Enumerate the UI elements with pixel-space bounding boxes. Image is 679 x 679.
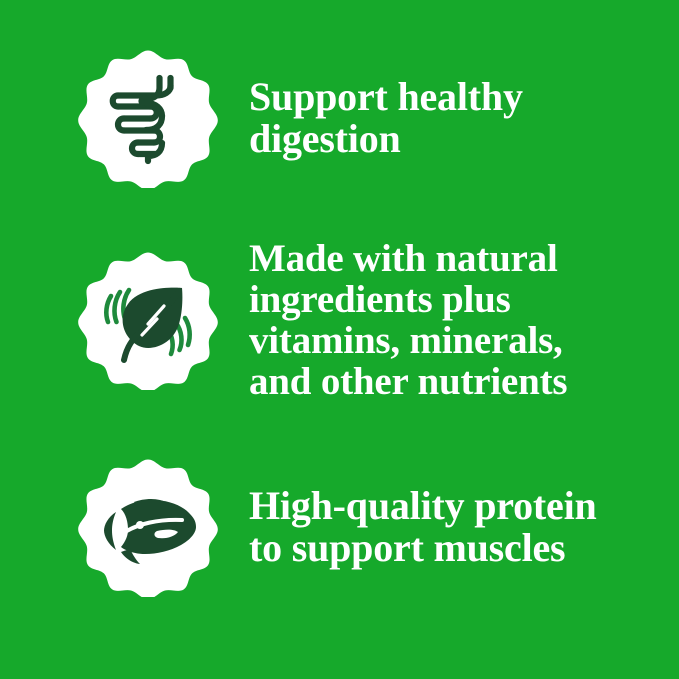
badge-digestion (78, 48, 218, 188)
feature-benefits-panel: Support healthy digestion (0, 0, 679, 679)
fish-icon (78, 457, 218, 597)
feature-row-protein: High-quality protein to support muscles (0, 457, 679, 597)
badge-protein (78, 457, 218, 597)
feature-text-digestion: Support healthy digestion (249, 76, 679, 160)
feature-text-protein: High-quality protein to support muscles (249, 485, 679, 569)
feature-row-ingredients: Made with natural ingredients plus vitam… (0, 250, 679, 390)
badge-ingredients (78, 250, 218, 390)
leaf-icon (78, 250, 218, 390)
feature-row-digestion: Support healthy digestion (0, 48, 679, 188)
feature-text-ingredients: Made with natural ingredients plus vitam… (249, 238, 679, 402)
intestine-icon (78, 48, 218, 188)
